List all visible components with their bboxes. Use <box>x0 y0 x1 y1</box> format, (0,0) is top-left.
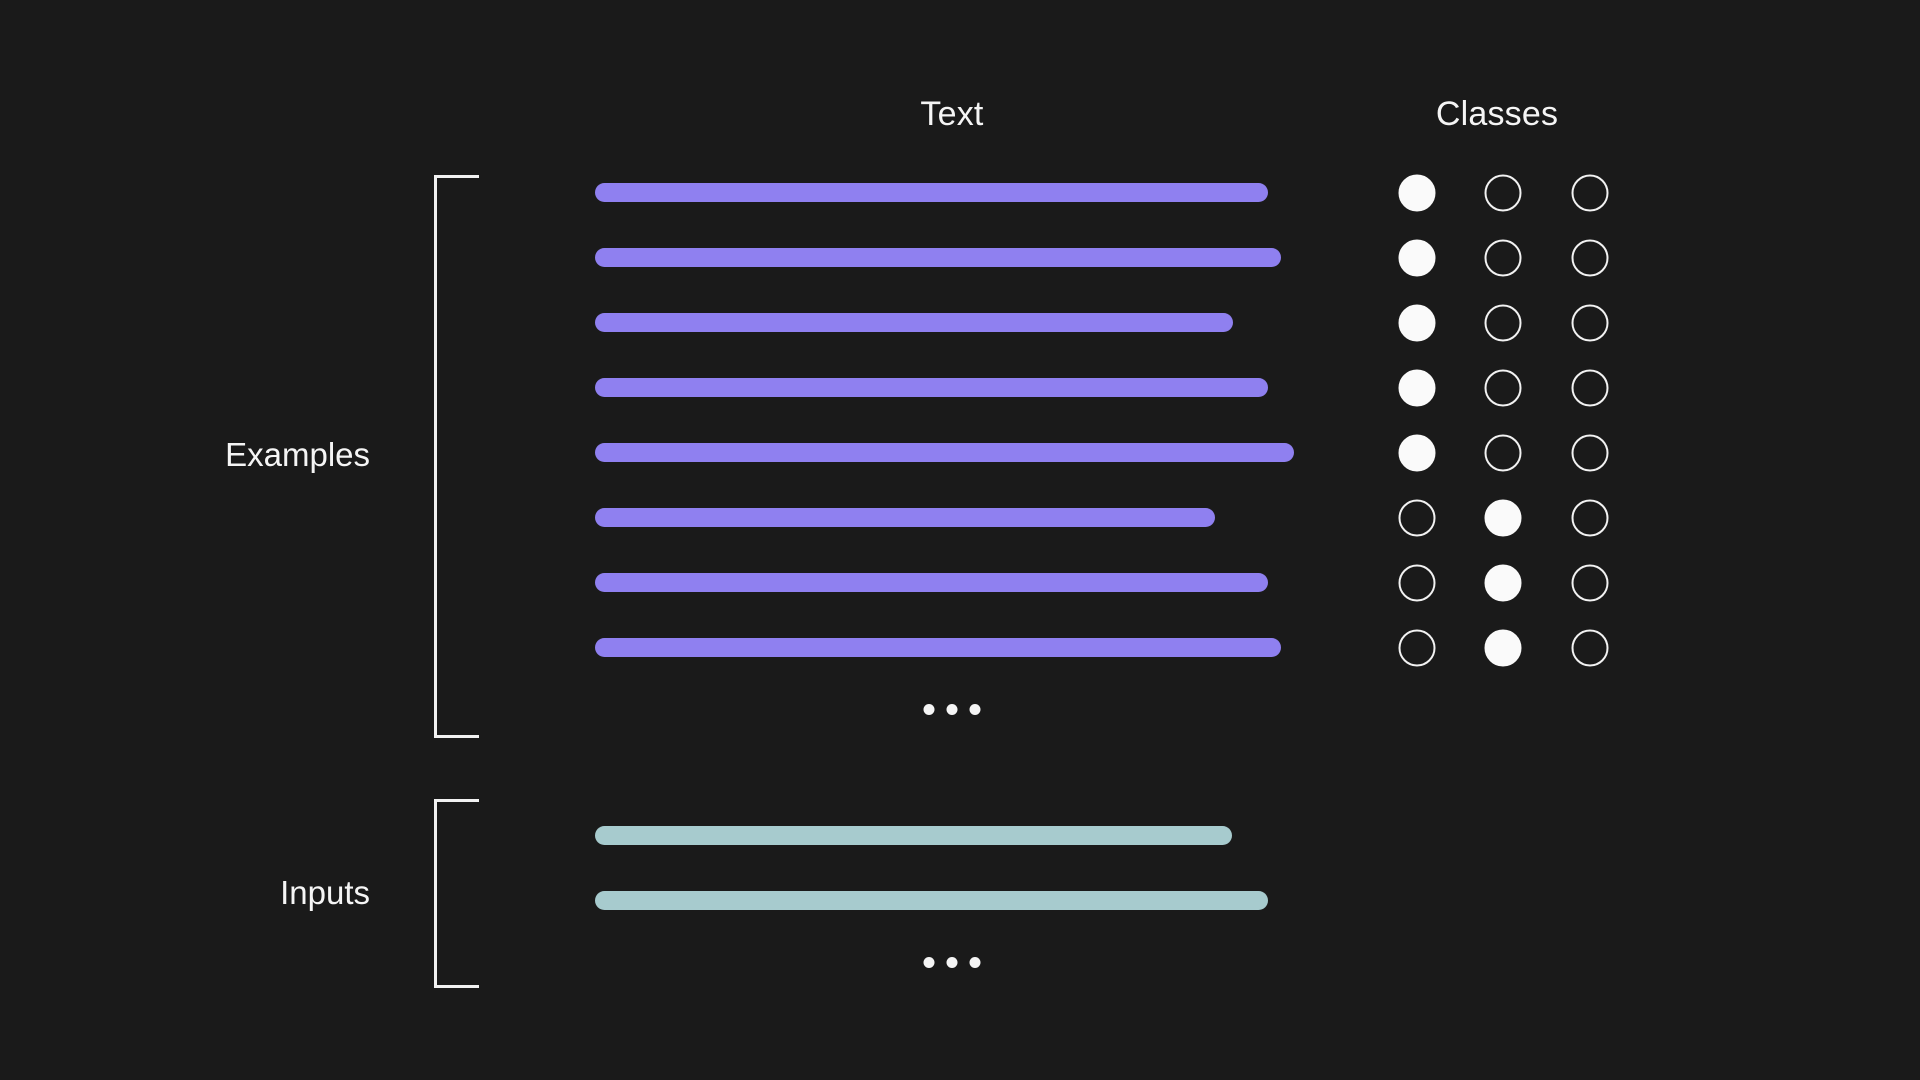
example-text-bar <box>595 313 1233 332</box>
class-circle-empty[interactable] <box>1485 305 1522 342</box>
class-circle-empty[interactable] <box>1399 565 1436 602</box>
ellipsis-examples <box>924 704 981 715</box>
ellipsis-dot <box>947 957 958 968</box>
class-circle-empty[interactable] <box>1399 500 1436 537</box>
ellipsis-dot <box>924 957 935 968</box>
column-header-classes: Classes <box>1436 95 1558 134</box>
class-circle-empty[interactable] <box>1485 370 1522 407</box>
class-circle-empty[interactable] <box>1572 370 1609 407</box>
column-header-text: Text <box>920 95 983 134</box>
ellipsis-inputs <box>924 957 981 968</box>
class-circle-empty[interactable] <box>1572 630 1609 667</box>
example-text-bar <box>595 378 1268 397</box>
class-circle-filled[interactable] <box>1399 175 1436 212</box>
section-label-inputs: Inputs <box>280 874 370 912</box>
example-text-bar <box>595 638 1281 657</box>
diagram-canvas: Text Classes Examples Inputs <box>0 0 1920 1080</box>
example-text-bar <box>595 573 1268 592</box>
class-circle-empty[interactable] <box>1572 565 1609 602</box>
example-text-bar <box>595 508 1215 527</box>
input-text-bar <box>595 826 1232 845</box>
class-circle-empty[interactable] <box>1485 435 1522 472</box>
ellipsis-dot <box>970 957 981 968</box>
input-text-bar <box>595 891 1268 910</box>
example-text-bar <box>595 183 1268 202</box>
class-circle-empty[interactable] <box>1572 435 1609 472</box>
class-circle-filled[interactable] <box>1399 435 1436 472</box>
ellipsis-dot <box>947 704 958 715</box>
class-circle-empty[interactable] <box>1485 175 1522 212</box>
example-text-bar <box>595 248 1281 267</box>
ellipsis-dot <box>924 704 935 715</box>
ellipsis-dot <box>970 704 981 715</box>
class-circle-filled[interactable] <box>1399 370 1436 407</box>
class-circle-filled[interactable] <box>1399 240 1436 277</box>
class-circle-empty[interactable] <box>1572 240 1609 277</box>
class-circle-empty[interactable] <box>1485 240 1522 277</box>
section-label-examples: Examples <box>225 436 370 474</box>
class-circle-empty[interactable] <box>1572 500 1609 537</box>
class-circle-empty[interactable] <box>1572 175 1609 212</box>
example-text-bar <box>595 443 1294 462</box>
class-circle-filled[interactable] <box>1485 500 1522 537</box>
class-circle-empty[interactable] <box>1399 630 1436 667</box>
class-circle-filled[interactable] <box>1399 305 1436 342</box>
class-circle-filled[interactable] <box>1485 565 1522 602</box>
class-circle-filled[interactable] <box>1485 630 1522 667</box>
bracket-examples <box>434 175 479 738</box>
bracket-inputs <box>434 799 479 988</box>
class-circle-empty[interactable] <box>1572 305 1609 342</box>
